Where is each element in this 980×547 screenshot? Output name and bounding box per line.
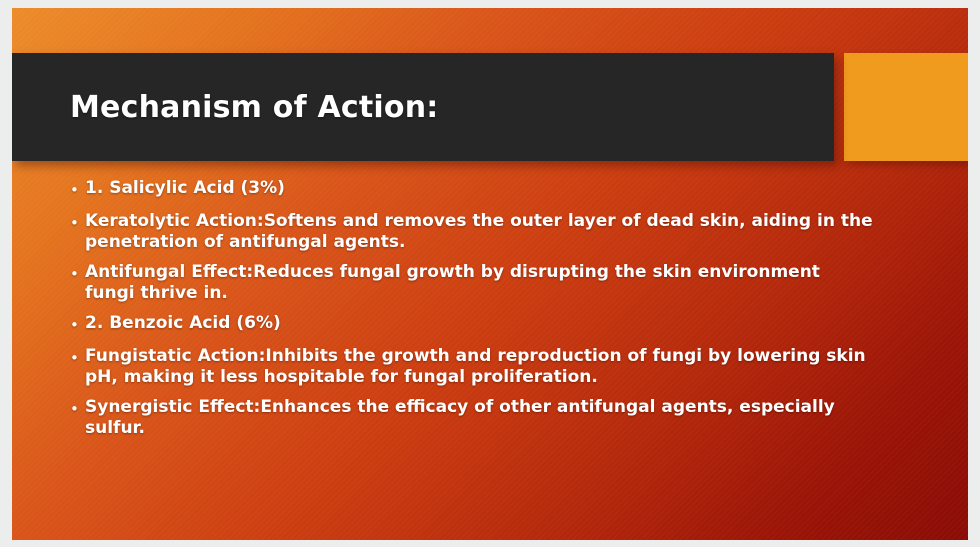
bullet-icon: •	[70, 178, 85, 202]
list-item-text: Synergistic Effect:Enhances the efficacy…	[85, 397, 875, 439]
bullet-icon: •	[70, 211, 85, 235]
list-item-text: 2. Benzoic Acid (6%)	[85, 313, 281, 334]
accent-block	[844, 53, 968, 161]
list-item: • 1. Salicylic Acid (3%)	[12, 178, 932, 202]
bullet-list: • 1. Salicylic Acid (3%) • Keratolytic A…	[12, 178, 932, 448]
list-item: • Synergistic Effect:Enhances the effica…	[12, 397, 932, 439]
slide-background: Mechanism of Action: • 1. Salicylic Acid…	[12, 8, 968, 540]
bullet-icon: •	[70, 346, 85, 370]
page-title: Mechanism of Action:	[12, 90, 438, 125]
title-banner: Mechanism of Action:	[12, 53, 834, 161]
list-item: • Keratolytic Action:Softens and removes…	[12, 211, 932, 253]
list-item-text: Antifungal Effect:Reduces fungal growth …	[85, 262, 875, 304]
list-item-text: Fungistatic Action:Inhibits the growth a…	[85, 346, 875, 388]
list-item: • Antifungal Effect:Reduces fungal growt…	[12, 262, 932, 304]
list-item: • Fungistatic Action:Inhibits the growth…	[12, 346, 932, 388]
bullet-icon: •	[70, 313, 85, 337]
list-item: • 2. Benzoic Acid (6%)	[12, 313, 932, 337]
bullet-icon: •	[70, 262, 85, 286]
list-item-text: Keratolytic Action:Softens and removes t…	[85, 211, 875, 253]
list-item-text: 1. Salicylic Acid (3%)	[85, 178, 285, 199]
bullet-icon: •	[70, 397, 85, 421]
slide-canvas: Mechanism of Action: • 1. Salicylic Acid…	[0, 0, 980, 547]
